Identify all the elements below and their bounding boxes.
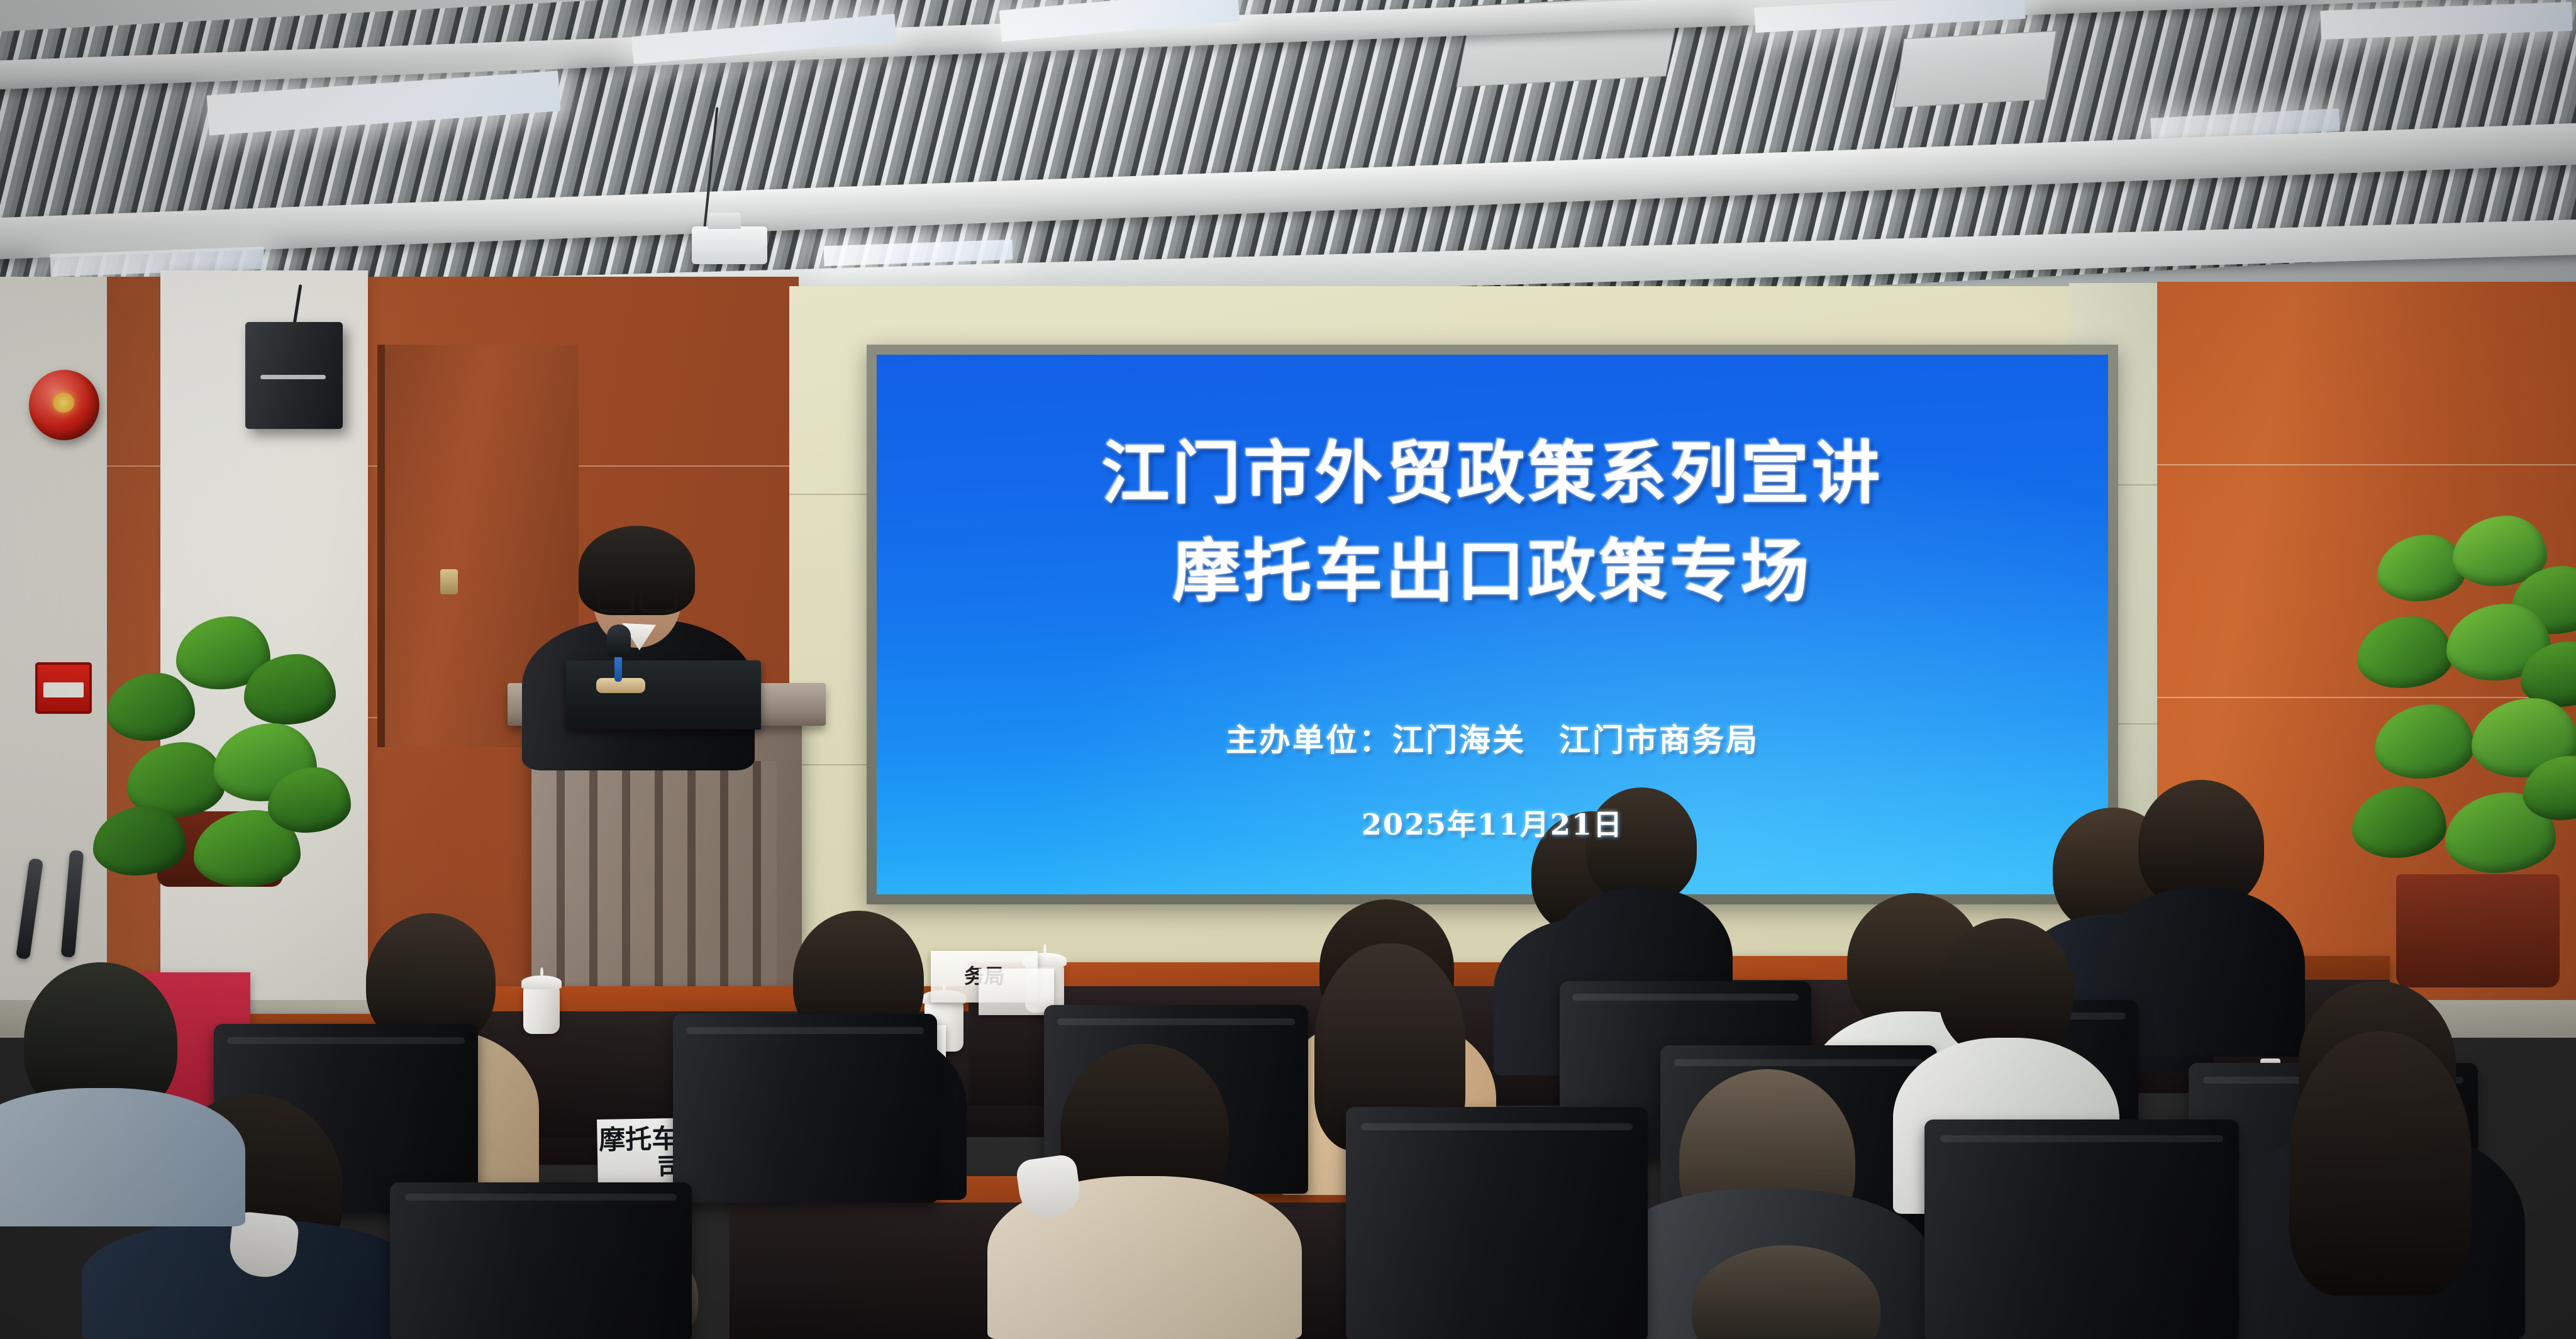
glasses-icon [598, 585, 676, 604]
plant-leaf [2377, 535, 2465, 601]
slide-content: 江门市外贸政策系列宣讲 摩托车出口政策专场 主办单位：江门海关 江门市商务局 2… [877, 355, 2108, 894]
chair[interactable] [1924, 1120, 2239, 1339]
fire-alarm-pull-station-icon[interactable] [35, 662, 92, 714]
plant-leaf [2352, 786, 2446, 858]
plant-leaf [107, 673, 195, 741]
attendee-head [1939, 918, 2074, 1058]
potted-plant-right [2352, 522, 2576, 987]
podium-laptop[interactable] [566, 660, 761, 730]
chair[interactable] [390, 1182, 692, 1339]
slide-title-line2: 摩托车出口政策专场 [1172, 523, 1812, 621]
ceiling [0, 0, 2576, 296]
ceiling-vent [1893, 31, 2057, 108]
plant-leaf [2375, 704, 2474, 779]
attendee [0, 962, 239, 1226]
fire-alarm-bell-icon [29, 370, 99, 440]
slide-date: 2025年11月21日 [1362, 802, 1623, 843]
conference-room-scene: 江门市外贸政策系列宣讲 摩托车出口政策专场 主办单位：江门海关 江门市商务局 2… [0, 0, 2576, 1339]
attendee [1623, 1245, 1950, 1339]
slide-title-line1: 江门市外贸政策系列宣讲 [1101, 425, 1883, 523]
attendee-head [1692, 1245, 1880, 1339]
attendee-hair [2289, 1031, 2472, 1296]
plant-pot [2396, 874, 2560, 987]
slide-organizer: 主办单位：江门海关 江门市商务局 [1226, 715, 1759, 760]
door-handle[interactable] [440, 569, 458, 594]
attendee-body [0, 1088, 245, 1226]
led-screen[interactable]: 江门市外贸政策系列宣讲 摩托车出口政策专场 主办单位：江门海关 江门市商务局 2… [877, 355, 2108, 894]
microphone-icon [607, 625, 631, 657]
chair[interactable] [1346, 1107, 1648, 1339]
wall-speaker-icon [245, 322, 343, 429]
plant-leaf [93, 806, 186, 875]
chair[interactable] [673, 1014, 937, 1203]
table-name-card [979, 969, 1054, 1015]
ceiling-projector [692, 226, 767, 264]
microphone-neck [614, 654, 622, 682]
led-screen-bezel: 江门市外贸政策系列宣讲 摩托车出口政策专场 主办单位：江门海关 江门市商务局 2… [867, 345, 2118, 904]
potted-plant-left [88, 560, 352, 887]
plant-leaf [2357, 616, 2453, 688]
